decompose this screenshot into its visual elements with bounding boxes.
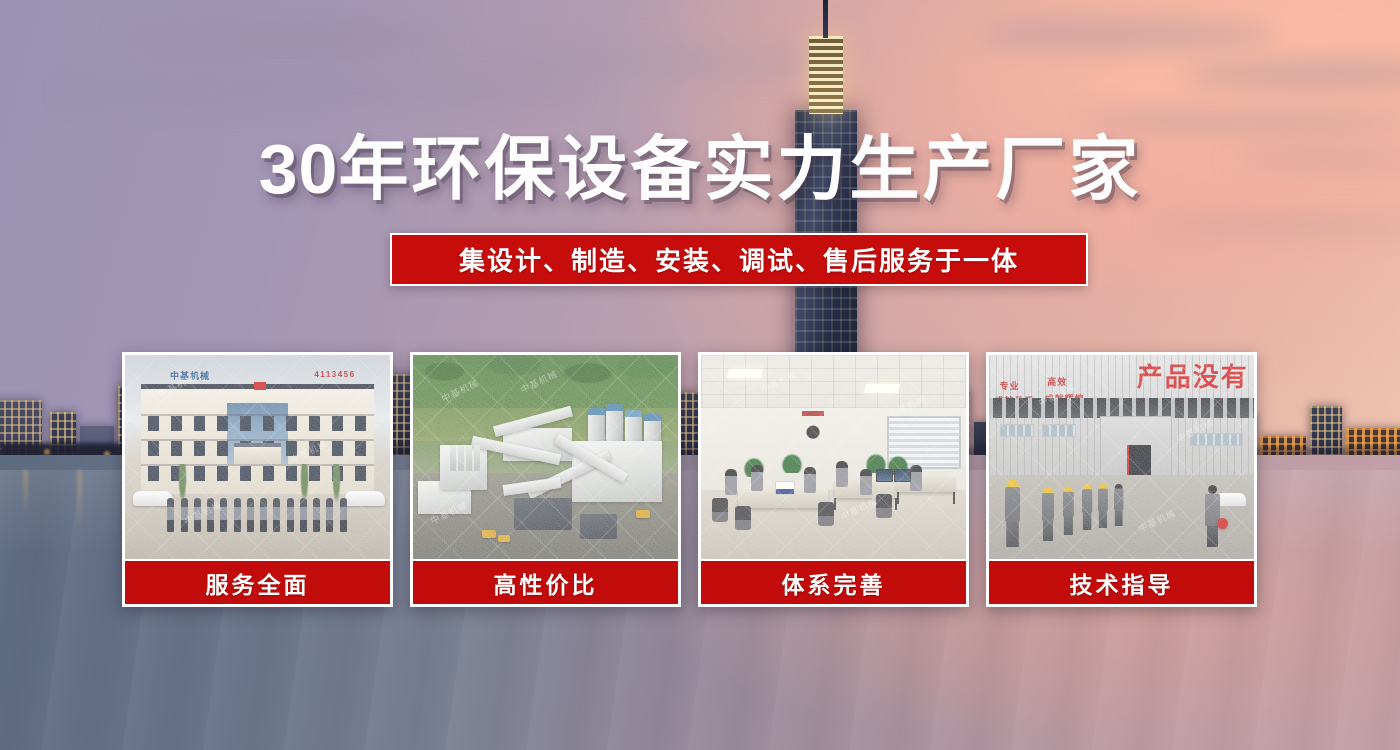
cloud-shape bbox=[430, 46, 850, 80]
landmark-tower-spire bbox=[823, 0, 828, 38]
feature-card[interactable]: 产品没有 专业 高效 成就品质 成就辉煌 bbox=[986, 352, 1257, 607]
feature-card[interactable]: 中基机械 中基机械 中基机械 高性价比 bbox=[410, 352, 681, 607]
card-caption: 技术指导 bbox=[989, 559, 1254, 604]
factory-slogan-text: 专业 bbox=[1000, 379, 1020, 392]
company-headquarters-photo: 中基机械 4113456 bbox=[125, 355, 390, 559]
subtitle-banner: 集设计、制造、安装、调试、售后服务于一体 bbox=[390, 233, 1088, 286]
feature-card-row: 中基机械 4113456 bbox=[122, 352, 1278, 607]
feature-card[interactable]: 中基机械 4113456 bbox=[122, 352, 393, 607]
card-caption: 体系完善 bbox=[701, 559, 966, 604]
light-reflection bbox=[24, 470, 27, 516]
landmark-tower-crown bbox=[809, 36, 843, 114]
card-caption-text: 体系完善 bbox=[782, 566, 886, 600]
page-title-text: 年环保设备实力生产厂家 bbox=[338, 130, 1141, 208]
cloud-shape bbox=[1080, 110, 1400, 132]
subtitle-text: 集设计、制造、安装、调试、售后服务于一体 bbox=[459, 241, 1019, 278]
factory-signage-text: 产品没有 bbox=[1137, 357, 1249, 394]
card-caption-text: 高性价比 bbox=[494, 566, 598, 600]
office-team-photo: 中基机械 中基机械 中基机械 bbox=[701, 355, 966, 559]
building-phone-text: 4113456 bbox=[314, 370, 355, 379]
light-reflection bbox=[78, 470, 81, 532]
cloud-shape bbox=[60, 80, 580, 106]
feature-card[interactable]: 中基机械 中基机械 中基机械 体系完善 bbox=[698, 352, 969, 607]
card-caption: 服务全面 bbox=[125, 559, 390, 604]
card-caption-text: 技术指导 bbox=[1070, 566, 1174, 600]
factory-slogan-text: 高效 bbox=[1047, 375, 1067, 388]
page-title-number: 30 bbox=[259, 130, 339, 208]
card-caption-text: 服务全面 bbox=[206, 566, 310, 600]
promo-banner: 30年环保设备实力生产厂家 集设计、制造、安装、调试、售后服务于一体 bbox=[0, 0, 1400, 750]
production-plant-aerial-photo: 中基机械 中基机械 中基机械 bbox=[413, 355, 678, 559]
card-caption: 高性价比 bbox=[413, 559, 678, 604]
building-signage-text: 中基机械 bbox=[170, 369, 210, 382]
factory-workers-training-photo: 产品没有 专业 高效 成就品质 成就辉煌 bbox=[989, 355, 1254, 559]
page-title: 30年环保设备实力生产厂家 bbox=[0, 131, 1400, 207]
cloud-shape bbox=[120, 18, 450, 58]
cloud-shape bbox=[980, 20, 1280, 50]
